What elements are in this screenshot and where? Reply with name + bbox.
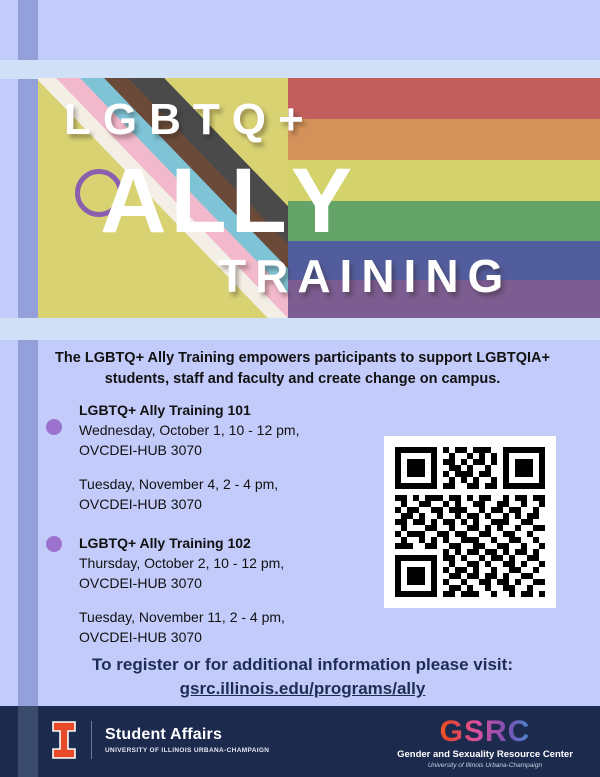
gsrc-subtitle: University of Illinois Urbana-Champaign [390,762,580,769]
session-102-date-1-where: OVCDEI-HUB 3070 [79,573,366,593]
university-logo-lockup: Student Affairs UNIVERSITY OF ILLINOIS U… [50,720,269,760]
session-101-title: LGBTQ+ Ally Training 101 [79,400,366,420]
ally-letter-y: Y [291,155,356,247]
hero-title-lgbtq: LGBTQ+ [64,95,316,145]
register-url-link[interactable]: gsrc.illinois.edu/programs/ally [20,677,585,701]
logo-divider [91,721,92,759]
block-i-icon [50,720,78,760]
bullet-icon-102 [46,536,62,552]
university-text: Student Affairs UNIVERSITY OF ILLINOIS U… [105,726,269,754]
qr-code[interactable] [384,436,556,608]
hero-title-ally: ALLY [100,155,356,247]
session-101-date-2-where: OVCDEI-HUB 3070 [79,494,366,514]
spacer [46,460,366,474]
footer: Student Affairs UNIVERSITY OF ILLINOIS U… [0,706,600,777]
session-list: LGBTQ+ Ally Training 101 Wednesday, Octo… [46,400,366,652]
poster: LGBTQ+ ALLY TRAINING The LGBTQ+ Ally Tra… [0,0,600,777]
qr-code-icon [395,447,545,597]
bullet-icon-101 [46,419,62,435]
spacer [46,593,366,607]
hero-title-training: TRAINING [218,249,512,303]
gsrc-wordmark: GSRC [390,716,580,748]
session-102-title: LGBTQ+ Ally Training 102 [79,533,366,553]
session-102-date-1-when: Thursday, October 2, 10 - 12 pm, [79,553,366,573]
gsrc-logo-lockup: GSRC Gender and Sexuality Resource Cente… [390,716,580,769]
session-101: LGBTQ+ Ally Training 101 Wednesday, Octo… [46,400,366,514]
session-101-date-1-where: OVCDEI-HUB 3070 [79,440,366,460]
register-callout: To register or for additional informatio… [20,653,585,701]
gsrc-name-label: Gender and Sexuality Resource Center [390,749,580,760]
session-101-date-1-when: Wednesday, October 1, 10 - 12 pm, [79,420,366,440]
background-horizontal-band-bottom [0,318,600,340]
spacer [46,519,366,533]
footer-vertical-bar [18,706,38,777]
register-prompt: To register or for additional informatio… [92,655,513,674]
ally-letter-l1: L [170,155,230,247]
background-vertical-bar [18,0,38,706]
session-102: LGBTQ+ Ally Training 102 Thursday, Octob… [46,533,366,647]
student-affairs-label: Student Affairs [105,726,269,744]
university-subtitle: UNIVERSITY OF ILLINOIS URBANA-CHAMPAIGN [105,747,269,754]
ally-letter-a: A [100,155,170,247]
ally-letter-l2: L [231,155,291,247]
session-102-date-2-when: Tuesday, November 11, 2 - 4 pm, [79,607,366,627]
intro-paragraph: The LGBTQ+ Ally Training empowers partic… [40,348,565,390]
background-horizontal-band-top [0,60,600,79]
session-101-date-2-when: Tuesday, November 4, 2 - 4 pm, [79,474,366,494]
session-102-date-2-where: OVCDEI-HUB 3070 [79,627,366,647]
